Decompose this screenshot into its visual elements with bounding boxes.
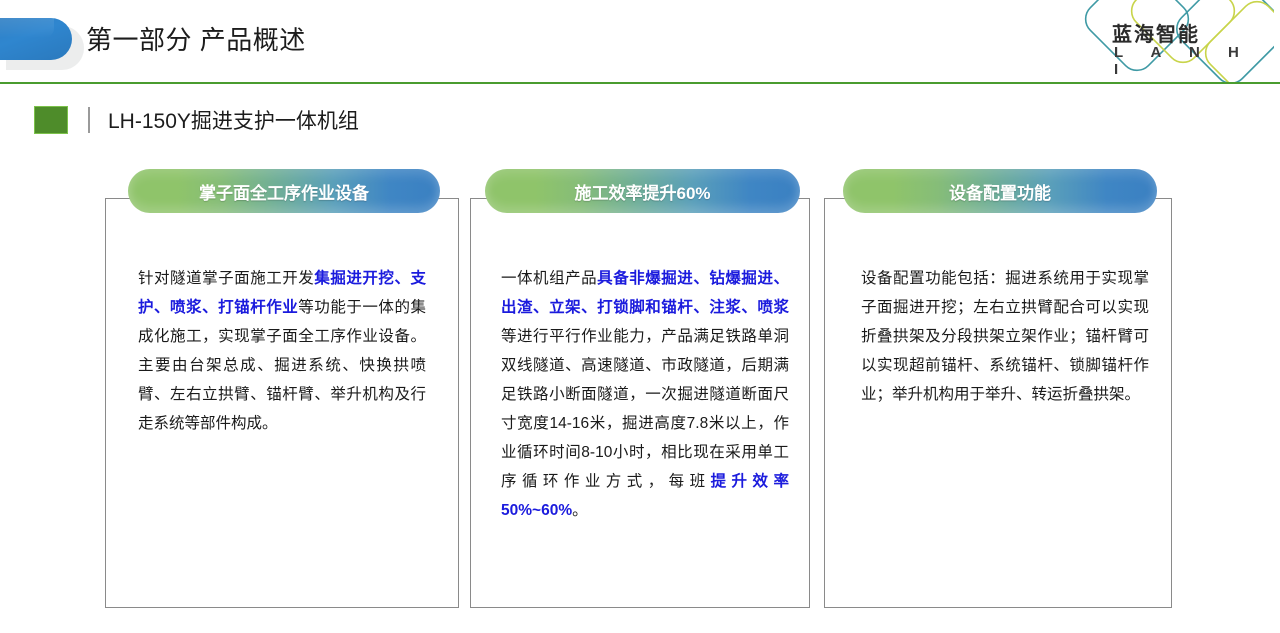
body-text: 设备配置功能包括：掘进系统用于实现掌子面掘进开挖；左右立拱臂配合可以实现折叠拱架… xyxy=(861,270,1149,403)
content-cards: 掌子面全工序作业设备 施工效率提升60% 设备配置功能 针对隧道掌子面施工开发集… xyxy=(0,0,1280,633)
card-body-3: 设备配置功能包括：掘进系统用于实现掌子面掘进开挖；左右立拱臂配合可以实现折叠拱架… xyxy=(861,264,1149,409)
card-body-2: 一体机组产品具备非爆掘进、钻爆掘进、出渣、立架、打锁脚和锚杆、注浆、喷浆等进行平… xyxy=(501,264,789,525)
card-header-pill-2: 施工效率提升60% xyxy=(485,169,800,213)
card-header-pill-1: 掌子面全工序作业设备 xyxy=(128,169,440,213)
body-text: 一体机组产品 xyxy=(501,270,597,287)
body-text: 等功能于一体的集成化施工，实现掌子面全工序作业设备。主要由台架总成、掘进系统、快… xyxy=(138,299,426,432)
body-text: 针对隧道掌子面施工开发 xyxy=(138,270,314,287)
body-text: 。 xyxy=(572,502,588,519)
card-body-1: 针对隧道掌子面施工开发集掘进开挖、支护、喷浆、打锚杆作业等功能于一体的集成化施工… xyxy=(138,264,426,438)
body-text: 等进行平行作业能力，产品满足铁路单洞双线隧道、高速隧道、市政隧道，后期满足铁路小… xyxy=(501,328,789,490)
card-header-pill-3: 设备配置功能 xyxy=(843,169,1157,213)
